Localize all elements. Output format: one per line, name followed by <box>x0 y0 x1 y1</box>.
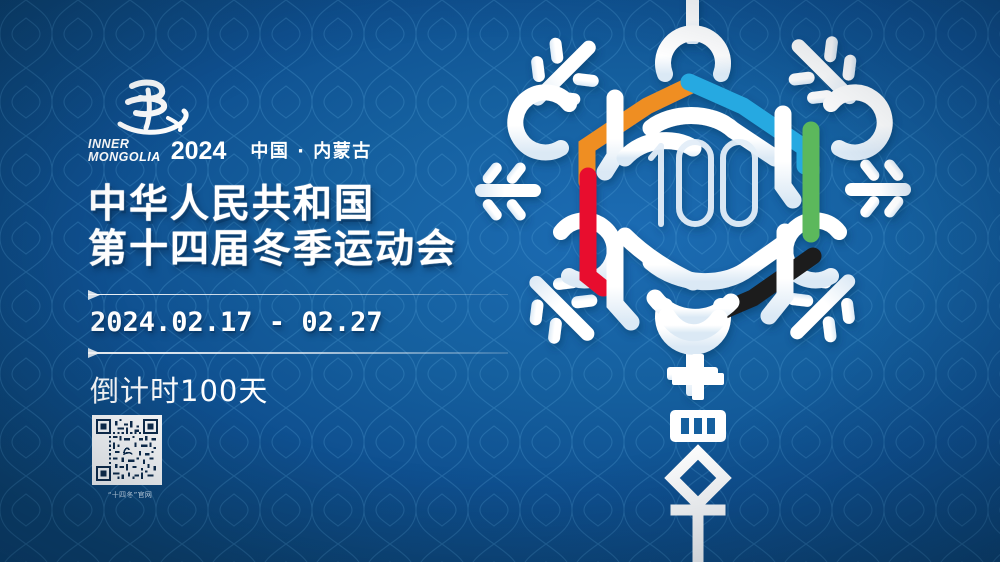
qr-code[interactable] <box>92 415 162 485</box>
brand-mongolia-word: MONGOLIA <box>88 151 161 164</box>
divider-1-wrap <box>88 294 508 295</box>
glyph-dong <box>672 452 724 560</box>
event-date: 2024.02.17 - 02.27 <box>90 307 508 338</box>
title-line-2: 第十四届冬季运动会 <box>88 227 508 272</box>
brand-inner-word: INNER <box>88 138 161 151</box>
left-content-column: INNER MONGOLIA 2024 中国 · 内蒙古 中华人民共和国 第十四… <box>88 82 508 410</box>
brand-inner-mongolia-text: INNER MONGOLIA <box>88 138 161 163</box>
qr-caption: “十四冬”官网 <box>92 491 168 500</box>
divider-2-wrap <box>88 352 508 353</box>
emblem-center-100 <box>651 142 755 224</box>
glyph-si <box>670 410 726 442</box>
brand-year: 2024 <box>171 139 227 163</box>
divider-2 <box>88 352 508 353</box>
divider-1 <box>88 294 508 295</box>
brand-lockup: INNER MONGOLIA 2024 中国 · 内蒙古 <box>88 82 508 164</box>
brand-text-line: INNER MONGOLIA 2024 中国 · 内蒙古 <box>88 138 372 163</box>
page-title: 中华人民共和国 第十四届冬季运动会 <box>88 182 508 272</box>
title-line-1: 中华人民共和国 <box>88 182 375 227</box>
poster-canvas: INNER MONGOLIA 2024 中国 · 内蒙古 中华人民共和国 第十四… <box>0 0 1000 562</box>
brand-location-cn: 中国 · 内蒙古 <box>250 141 371 163</box>
countdown-text: 倒计时100天 <box>90 368 508 410</box>
vertical-script-container <box>648 352 748 562</box>
inner-mongolia-calligraphy-mark-icon <box>110 78 194 140</box>
qr-block[interactable]: “十四冬”官网 <box>92 415 168 500</box>
